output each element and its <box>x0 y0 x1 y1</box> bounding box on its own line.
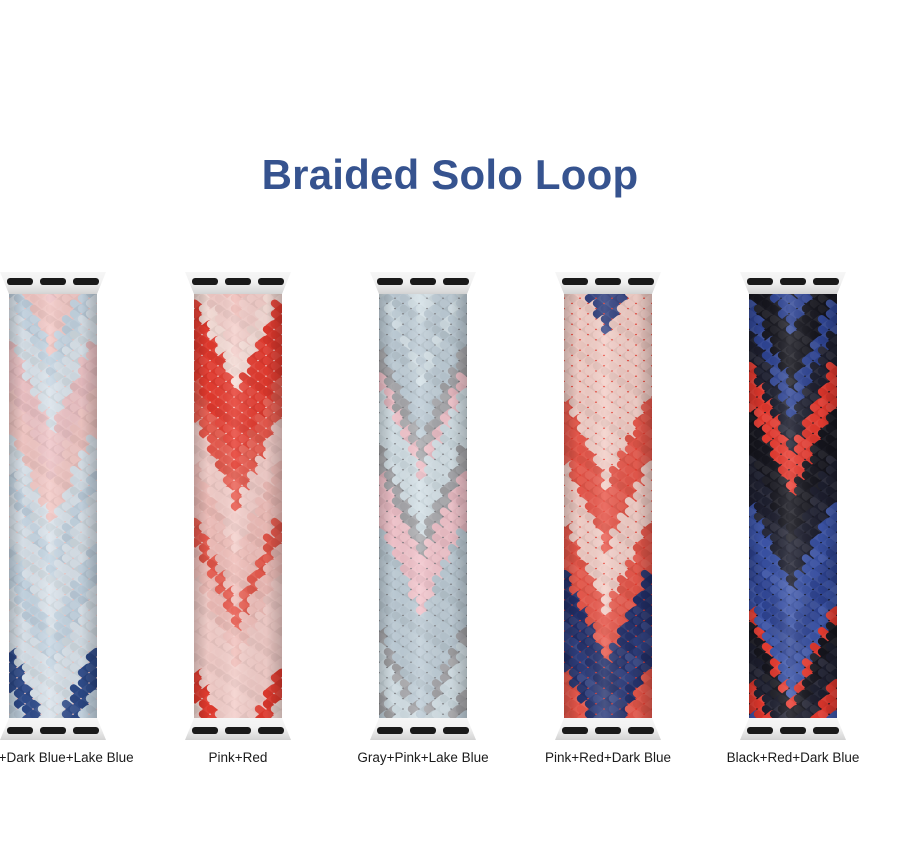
watch-lug-connector-top <box>185 272 291 294</box>
watch-lug-connector-bottom <box>185 718 291 740</box>
variant-label: Pink+Dark Blue+Lake Blue <box>0 750 165 765</box>
variant-label: Pink+Red <box>148 750 328 765</box>
watch-band-image <box>0 272 143 742</box>
product-band-gray-pink-lake-blue[interactable]: Gray+Pink+Lake Blue <box>333 272 513 772</box>
braided-weave <box>194 293 282 719</box>
variant-label: Gray+Pink+Lake Blue <box>311 750 535 765</box>
page-title: Braided Solo Loop <box>0 150 900 200</box>
watch-lug-connector-top <box>370 272 476 294</box>
variant-label: Pink+Red+Dark Blue <box>518 750 698 765</box>
braided-weave <box>749 293 837 719</box>
watch-lug-connector-top <box>740 272 846 294</box>
product-band-black-red-dark-blue[interactable]: Black+Red+Dark Blue <box>703 272 883 772</box>
watch-lug-connector-bottom <box>0 718 106 740</box>
product-band-pink-red-dark-blue[interactable]: Pink+Red+Dark Blue <box>518 272 698 772</box>
braided-weave <box>379 293 467 719</box>
product-showcase-page: Braided Solo Loop Pink+Dark Blue+Lake Bl… <box>0 0 900 862</box>
variant-label: Black+Red+Dark Blue <box>681 750 900 765</box>
watch-lug-connector-top <box>0 272 106 294</box>
product-band-pink-dark-blue-lake-blue[interactable]: Pink+Dark Blue+Lake Blue <box>0 272 143 772</box>
watch-lug-connector-bottom <box>370 718 476 740</box>
watch-lug-connector-top <box>555 272 661 294</box>
braided-weave <box>9 293 97 719</box>
product-row: Pink+Dark Blue+Lake BluePink+RedGray+Pin… <box>0 272 900 772</box>
watch-lug-connector-bottom <box>555 718 661 740</box>
watch-band-image <box>148 272 328 742</box>
braided-weave <box>564 293 652 719</box>
watch-band-image <box>703 272 883 742</box>
watch-band-image <box>518 272 698 742</box>
watch-lug-connector-bottom <box>740 718 846 740</box>
product-band-pink-red[interactable]: Pink+Red <box>148 272 328 772</box>
watch-band-image <box>333 272 513 742</box>
